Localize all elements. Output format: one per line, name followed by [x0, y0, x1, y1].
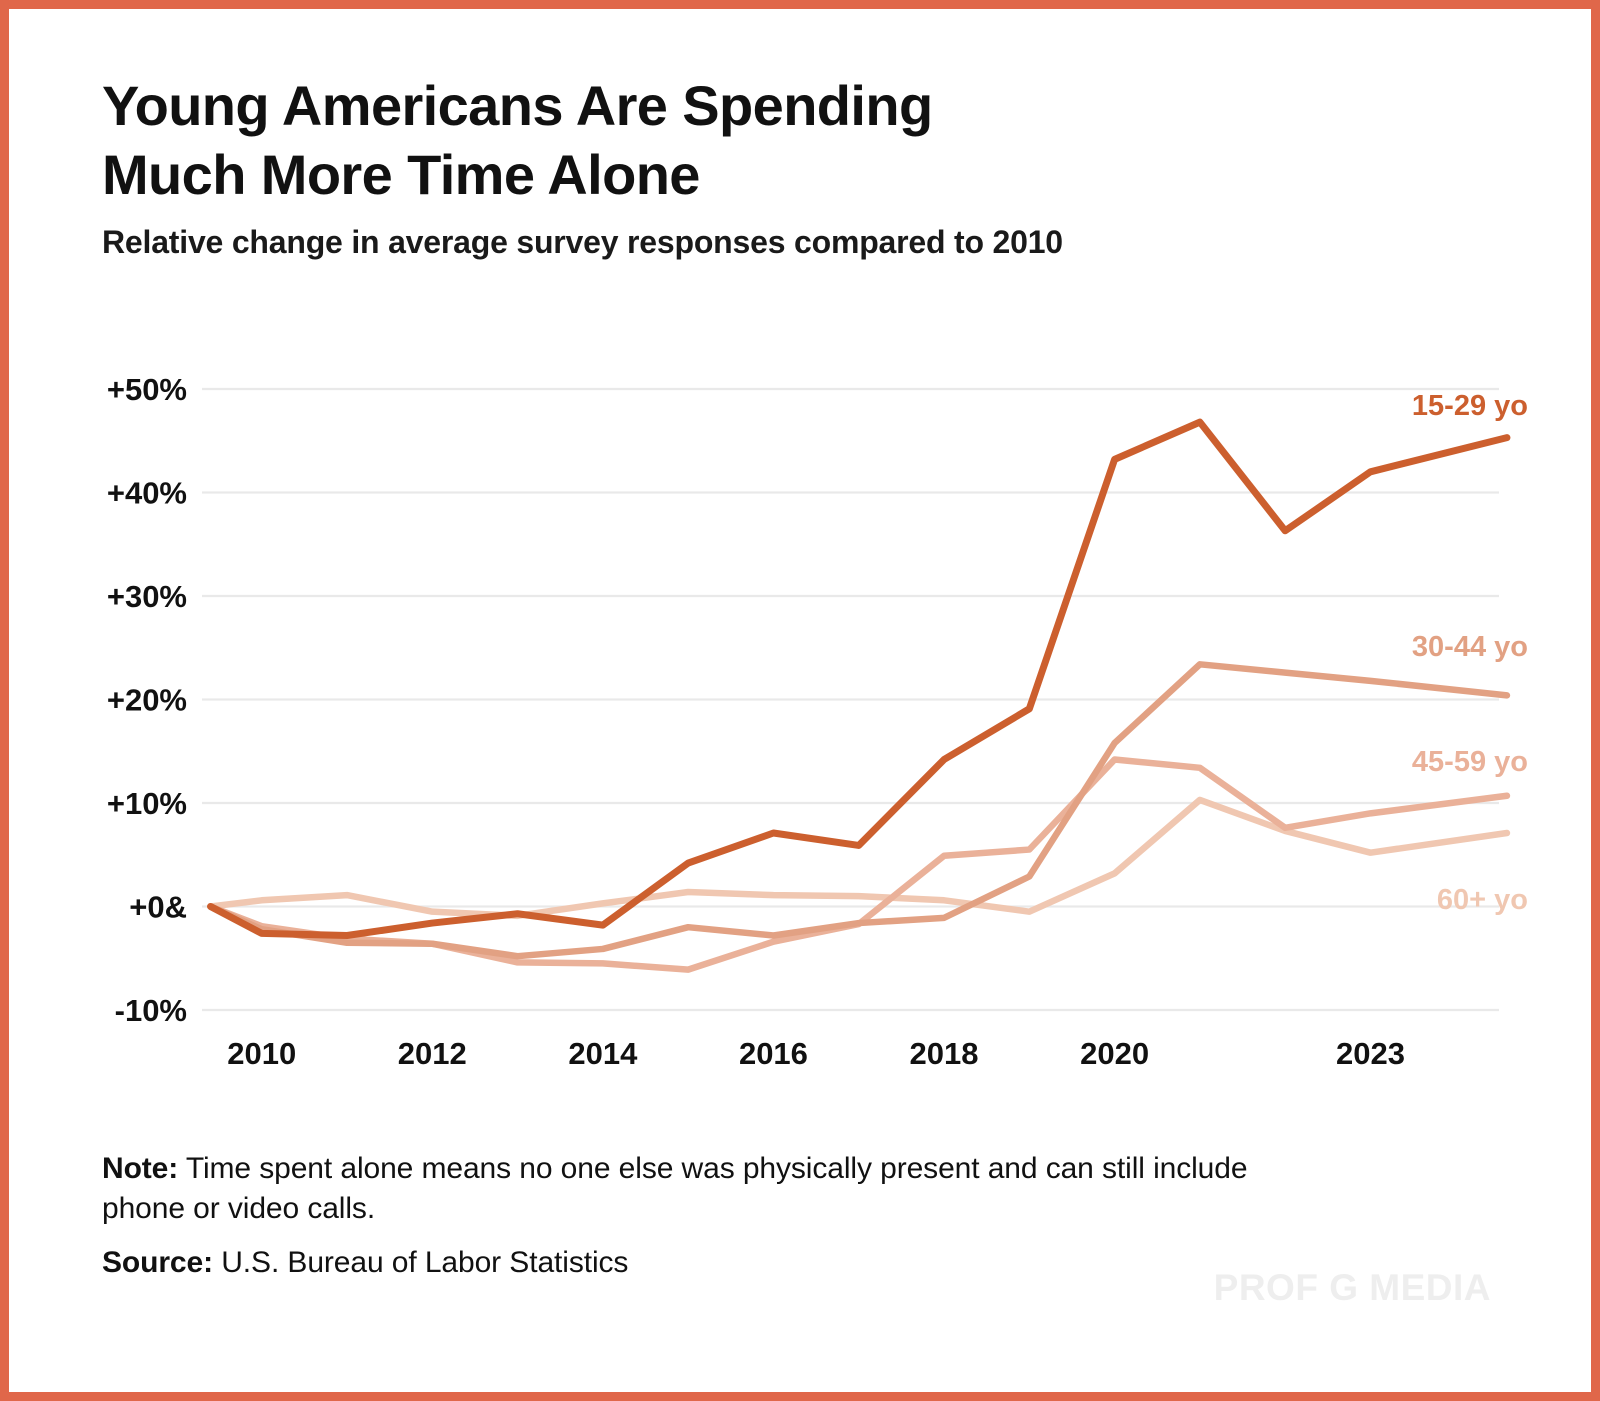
x-axis-tick-label: 2010 [227, 1036, 296, 1071]
page-title: Young Americans Are Spending Much More T… [102, 71, 1522, 210]
x-axis-tick-label: 2020 [1080, 1036, 1149, 1071]
line-chart: +50%+40%+30%+20%+10%+0&-10% 201020122014… [9, 339, 1600, 1099]
footer: Note: Time spent alone means no one else… [102, 1149, 1282, 1284]
series-label-45-59-yo: 45-59 yo [1412, 746, 1528, 778]
series-line-15-29-yo [211, 422, 1507, 935]
series-line-30-44-yo [211, 664, 1507, 956]
y-axis-tick-label: +20% [107, 683, 187, 718]
note-label: Note: [102, 1152, 178, 1185]
x-axis-tick-label: 2014 [568, 1036, 638, 1071]
source-body: U.S. Bureau of Labor Statistics [213, 1246, 628, 1279]
y-axis-labels: +50%+40%+30%+20%+10%+0&-10% [107, 372, 187, 1028]
y-axis-tick-label: -10% [115, 993, 187, 1028]
x-axis-tick-label: 2016 [739, 1036, 808, 1071]
series-lines [211, 422, 1507, 970]
series-label-30-44-yo: 30-44 yo [1412, 631, 1528, 663]
y-axis-tick-label: +40% [107, 476, 187, 511]
x-axis-tick-label: 2018 [910, 1036, 979, 1071]
page-subtitle: Relative change in average survey respon… [102, 224, 1522, 261]
series-label-15-29-yo: 15-29 yo [1412, 390, 1528, 422]
y-axis-tick-label: +30% [107, 579, 187, 614]
source-label: Source: [102, 1246, 213, 1279]
chart-svg: +50%+40%+30%+20%+10%+0&-10% 201020122014… [9, 339, 1600, 1099]
y-axis-tick-label: +50% [107, 372, 187, 407]
series-line-60-yo [211, 800, 1507, 916]
infographic-canvas: Young Americans Are Spending Much More T… [9, 9, 1591, 1392]
watermark: PROF G MEDIA [1214, 1267, 1491, 1309]
note-text: Note: Time spent alone means no one else… [102, 1149, 1282, 1229]
note-body: Time spent alone means no one else was p… [102, 1152, 1247, 1225]
source-text: Source: U.S. Bureau of Labor Statistics [102, 1243, 1282, 1283]
x-axis-tick-label: 2012 [398, 1036, 467, 1071]
series-label-60-yo: 60+ yo [1437, 884, 1528, 916]
y-axis-tick-label: +0& [129, 890, 187, 925]
y-axis-tick-label: +10% [107, 786, 187, 821]
series-line-45-59-yo [211, 760, 1507, 970]
gridlines [202, 389, 1499, 1010]
header: Young Americans Are Spending Much More T… [102, 71, 1522, 261]
x-axis-labels: 2010201220142016201820202023 [227, 1036, 1405, 1071]
infographic-frame: Young Americans Are Spending Much More T… [0, 0, 1600, 1401]
x-axis-tick-label: 2023 [1336, 1036, 1405, 1071]
